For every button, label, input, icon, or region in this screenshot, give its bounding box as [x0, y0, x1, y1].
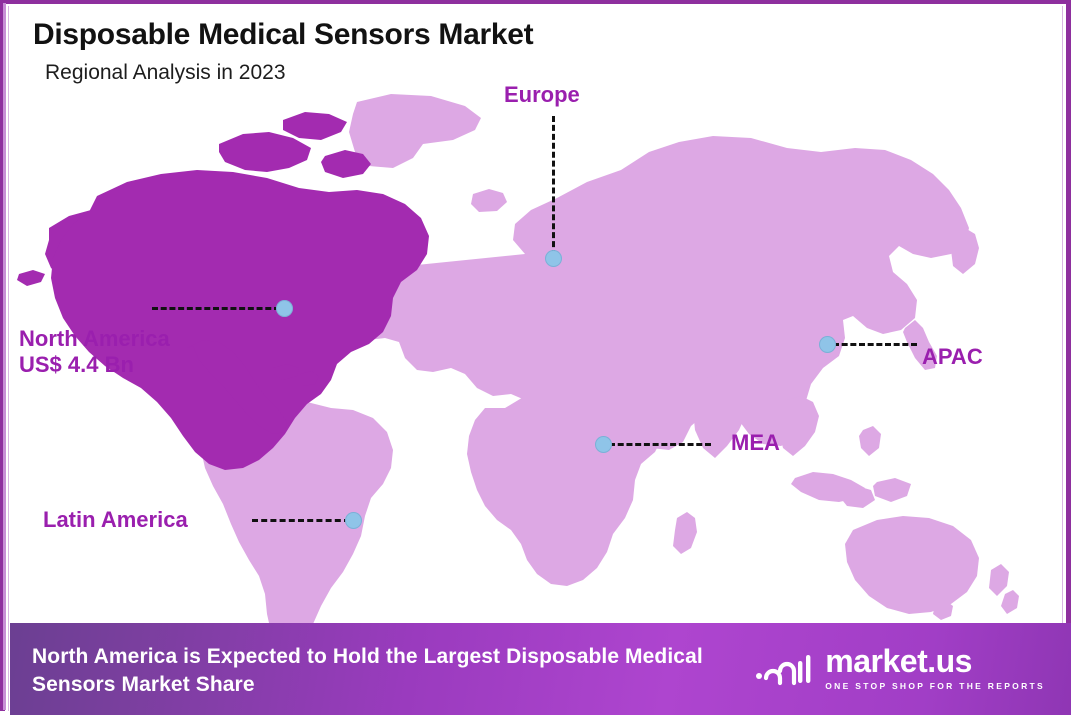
- map-marker-mea[interactable]: [595, 436, 612, 453]
- brand-logo[interactable]: market.us ONE STOP SHOP FOR THE REPORTS: [755, 645, 1045, 691]
- brand-tagline: ONE STOP SHOP FOR THE REPORTS: [825, 681, 1045, 691]
- market-us-logo-icon: [755, 647, 813, 689]
- region-value-north-america: US$ 4.4 Bn: [19, 352, 170, 378]
- leader-line-apac: [833, 343, 917, 346]
- footer-banner: North America is Expected to Hold the La…: [10, 623, 1071, 715]
- region-name-north-america: North America: [19, 326, 170, 352]
- leader-line-north-america: [152, 307, 280, 310]
- page-title: Disposable Medical Sensors Market: [33, 18, 533, 52]
- map-marker-apac[interactable]: [819, 336, 836, 353]
- region-label-mea: MEA: [731, 430, 780, 456]
- infographic-poster: Disposable Medical Sensors Market Region…: [0, 0, 1071, 711]
- brand-name: market.us: [825, 645, 972, 677]
- leader-line-latin-america: [252, 519, 350, 522]
- banner-headline: North America is Expected to Hold the La…: [32, 643, 772, 698]
- region-label-apac: APAC: [922, 344, 983, 370]
- map-marker-north-america[interactable]: [276, 300, 293, 317]
- brand-logo-text: market.us ONE STOP SHOP FOR THE REPORTS: [825, 645, 1045, 691]
- region-label-latin-america: Latin America: [43, 507, 188, 533]
- region-label-north-america: North America US$ 4.4 Bn: [19, 326, 170, 378]
- leader-line-mea: [609, 443, 711, 446]
- map-marker-latin-america[interactable]: [345, 512, 362, 529]
- map-marker-europe[interactable]: [545, 250, 562, 267]
- leader-line-europe: [552, 116, 555, 256]
- region-label-europe: Europe: [504, 82, 580, 108]
